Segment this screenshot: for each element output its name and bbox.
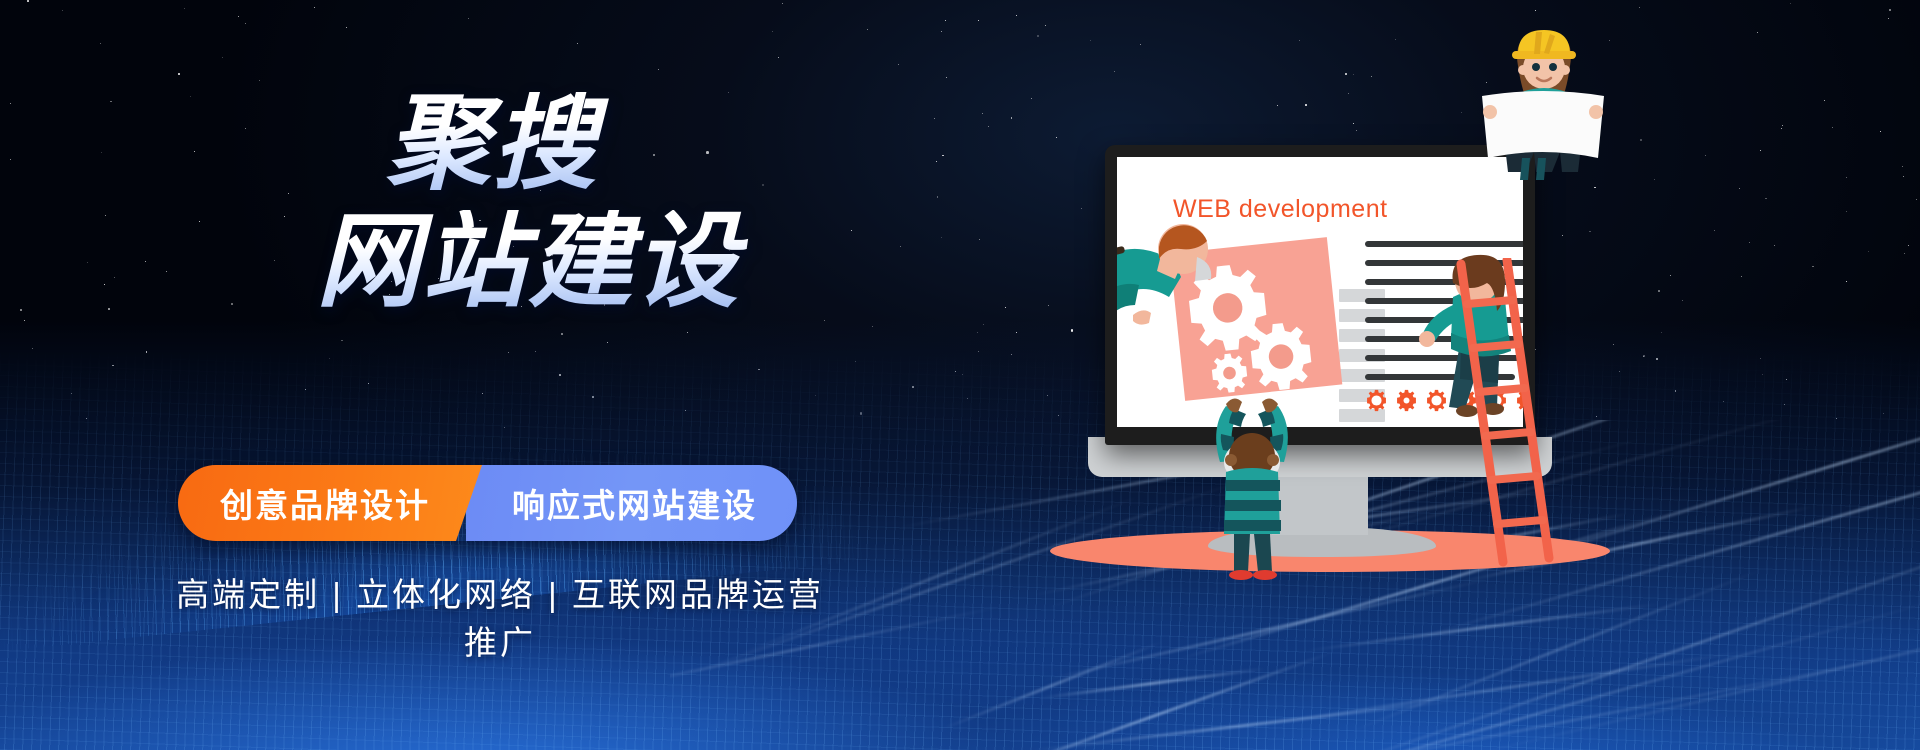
headline-line-2: 网站建设: [0, 210, 760, 314]
star: [778, 57, 779, 58]
star: [1916, 199, 1917, 200]
star: [1749, 242, 1750, 243]
tagline: 高端定制 | 立体化网络 | 互联网品牌运营推广: [160, 568, 840, 664]
star: [1765, 198, 1767, 200]
star: [1889, 9, 1891, 11]
star: [762, 184, 765, 187]
star: [577, 43, 578, 44]
star: [1037, 35, 1039, 37]
star: [941, 31, 942, 32]
star: [27, 0, 29, 2]
star: [1654, 179, 1655, 180]
star: [1016, 15, 1017, 16]
star: [772, 31, 773, 32]
star: [1045, 25, 1046, 26]
content-line: [1365, 241, 1523, 247]
star: [1824, 100, 1825, 101]
star: [782, 3, 783, 4]
star: [1682, 300, 1683, 301]
star: [867, 29, 868, 30]
star: [1658, 290, 1660, 292]
gear-icon: [1395, 389, 1418, 417]
star: [658, 69, 659, 70]
star: [1812, 266, 1814, 268]
star: [1846, 177, 1847, 178]
feature-pill: 创意品牌设计 响应式网站建设: [178, 465, 797, 541]
star: [259, 80, 260, 81]
star: [978, 20, 979, 21]
star: [982, 113, 983, 114]
star: [1888, 18, 1889, 19]
star: [936, 161, 937, 162]
star: [1846, 211, 1847, 212]
headline-block: 聚搜 网站建设: [0, 92, 760, 314]
star: [184, 8, 185, 9]
star: [1774, 245, 1775, 246]
pill-segment-responsive-site[interactable]: 响应式网站建设: [466, 465, 797, 541]
star: [1846, 281, 1847, 282]
star: [1031, 98, 1032, 99]
star: [979, 239, 981, 241]
star: [238, 16, 239, 17]
star: [1048, 305, 1049, 306]
star: [222, 57, 223, 58]
headline-line-1: 聚搜: [0, 92, 760, 196]
star: [1714, 230, 1715, 231]
star: [1908, 245, 1909, 246]
star: [178, 73, 180, 75]
star: [1639, 7, 1640, 8]
star: [1056, 137, 1057, 138]
star: [62, 10, 63, 11]
star: [851, 230, 852, 231]
star: [245, 23, 246, 24]
star: [468, 18, 469, 19]
star: [945, 20, 946, 21]
star: [1640, 139, 1642, 141]
star: [937, 196, 939, 198]
star: [988, 126, 989, 127]
star: [100, 43, 101, 44]
star: [898, 64, 899, 65]
star: [1904, 253, 1905, 254]
star: [1670, 275, 1671, 276]
star: [1757, 32, 1758, 33]
star: [1782, 125, 1784, 127]
star: [1760, 150, 1761, 151]
star: [946, 77, 947, 78]
star: [1705, 155, 1706, 156]
star: [1005, 307, 1006, 308]
star: [1781, 128, 1782, 129]
star: [314, 7, 315, 8]
star: [1832, 127, 1833, 128]
star: [900, 246, 901, 247]
gear-icon: [1242, 317, 1321, 396]
child-raising-arms: [1192, 390, 1312, 585]
pill-segment-creative-brand[interactable]: 创意品牌设计: [178, 465, 482, 541]
worker-painting-gears: [1117, 219, 1245, 354]
star: [934, 118, 935, 119]
star: [1903, 176, 1904, 177]
star: [1011, 117, 1013, 119]
star: [1868, 251, 1869, 252]
star: [1902, 166, 1903, 167]
hero-banner: 聚搜 网站建设 创意品牌设计 响应式网站建设 高端定制 | 立体化网络 | 互联…: [0, 0, 1920, 750]
worker-with-blueprint: [1478, 20, 1608, 185]
gear-icon: [1365, 389, 1388, 417]
star: [1790, 3, 1791, 4]
star: [941, 237, 942, 238]
ladder-icon: [1445, 258, 1565, 558]
star: [942, 155, 944, 157]
star: [1741, 276, 1742, 277]
star: [346, 27, 347, 28]
star: [1739, 188, 1740, 189]
star: [1880, 131, 1881, 132]
illustration: WEB development: [1060, 0, 1620, 750]
